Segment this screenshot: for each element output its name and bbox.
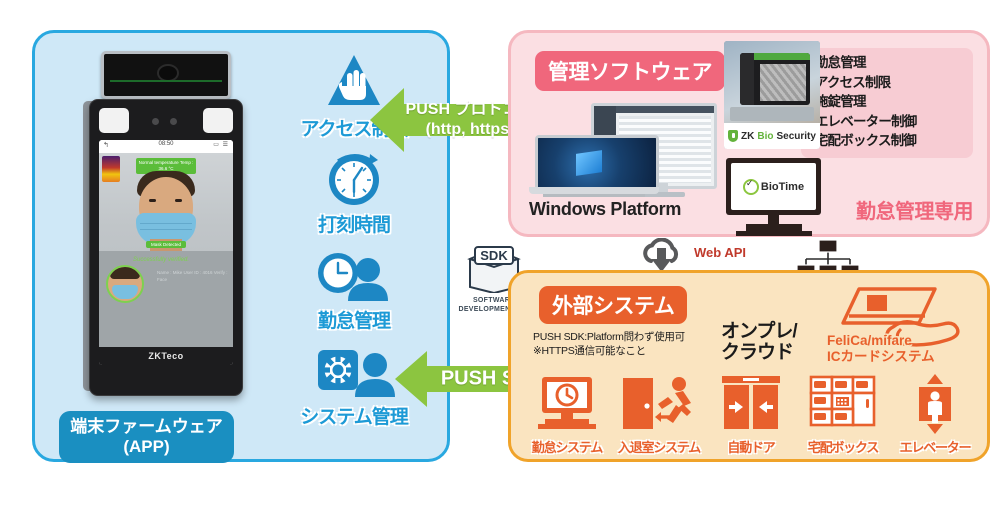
list-item: ●勤怠管理 bbox=[809, 54, 965, 74]
system-automatic-door: 自動ドア bbox=[705, 373, 797, 456]
zkbiosecurity-caption: ZKBioSecurity bbox=[724, 123, 820, 149]
camera-lens-icon bbox=[157, 64, 179, 82]
device-screen[interactable]: ↰ 08:50 ▭ ☰ Normal temperature Temp : 36… bbox=[99, 140, 233, 365]
feature-punch-time: 打刻時間 bbox=[270, 147, 438, 237]
biotime-monitor-base-foot bbox=[736, 231, 812, 236]
bullet-text: 勤怠管理 bbox=[815, 55, 866, 70]
zkbio-laptop-content bbox=[760, 64, 806, 101]
web-api-label: Web API bbox=[694, 245, 746, 260]
biotime-screen-inner: BioTime bbox=[731, 163, 816, 210]
system-label: エレベーター bbox=[889, 437, 981, 456]
windows-platform-group: Windows Platform bbox=[529, 103, 719, 218]
clock-person-icon bbox=[270, 243, 438, 305]
automatic-door-icon bbox=[705, 373, 797, 435]
feature-label: 勤怠管理 bbox=[270, 306, 438, 333]
zkbio-photo-scene bbox=[724, 41, 820, 123]
felica-mifare-label: FeliCa/mifare ICカードシステム bbox=[827, 333, 935, 365]
user-info-text: Name : Mike User ID : 4016 Verify : Face bbox=[157, 269, 233, 283]
mask-detected-badge: Mask Detected bbox=[146, 241, 186, 248]
zkbio-laptop bbox=[740, 53, 810, 105]
door-exit-icon bbox=[613, 373, 705, 435]
thermal-image-icon bbox=[102, 156, 120, 182]
onpremise-cloud-label: オンプレ/ クラウド bbox=[721, 321, 797, 363]
thumbnail-hair bbox=[110, 265, 140, 279]
biotime-logo: BioTime bbox=[743, 179, 804, 195]
zkbio-laptop-sidebar bbox=[740, 53, 754, 105]
biotime-monitor-neck bbox=[768, 215, 779, 224]
thumbnail-mask bbox=[112, 285, 138, 299]
system-attendance: 勤怠システム bbox=[521, 373, 613, 456]
management-feature-bullets: ●勤怠管理 ●アクセス制限 ●施錠管理 ●エレベーター制御 ●宅配ボックス制御 bbox=[801, 48, 973, 158]
delivery-locker-icon bbox=[797, 373, 889, 435]
list-item: ●アクセス制限 bbox=[809, 74, 965, 94]
zkbio-bio-text: Bio bbox=[757, 131, 773, 142]
external-system-panel: 外部システム PUSH SDK:Platform問わず使用可 ※HTTPS通信可… bbox=[508, 270, 990, 462]
zkbio-zk-text: ZK bbox=[741, 131, 754, 142]
laptop-screen bbox=[535, 135, 659, 193]
system-access-control: 入退室システム bbox=[613, 373, 705, 456]
monitor-app-topbar bbox=[616, 106, 714, 113]
bullet-text: エレベーター制御 bbox=[815, 114, 917, 129]
system-label: 宅配ボックス bbox=[797, 437, 889, 456]
user-thumbnail-avatar bbox=[106, 265, 144, 303]
system-delivery-locker: 宅配ボックス bbox=[797, 373, 889, 456]
attendance-monitor-icon bbox=[521, 373, 613, 435]
windows-logo-icon bbox=[576, 150, 602, 176]
ir-camera-dot-1 bbox=[152, 118, 159, 125]
zkbio-keyboard bbox=[730, 107, 814, 121]
device-status-icons: ▭ ☰ bbox=[213, 141, 229, 148]
windows-laptop bbox=[529, 135, 659, 195]
zkbio-security-text: Security bbox=[776, 131, 815, 142]
face-eye-left bbox=[149, 199, 156, 202]
management-software-panel: 管理ソフトウェア ●勤怠管理 ●アクセス制限 ●施錠管理 ●エレベーター制御 ●… bbox=[508, 30, 990, 237]
biotime-monitor-base bbox=[746, 224, 802, 231]
feature-label: 打刻時間 bbox=[270, 210, 438, 237]
ir-fill-light-left bbox=[99, 108, 129, 133]
feature-attendance-management: 勤怠管理 bbox=[270, 243, 438, 333]
device-body: ↰ 08:50 ▭ ☰ Normal temperature Temp : 36… bbox=[89, 99, 243, 396]
laptop-foot bbox=[543, 194, 645, 197]
management-software-badge: 管理ソフトウェア bbox=[535, 51, 725, 91]
zkbiosecurity-product-image: ZKBioSecurity bbox=[724, 41, 820, 149]
face-recognition-preview: Normal temperature Temp : 36.6 °C Mask D… bbox=[99, 153, 233, 347]
check-circle-icon bbox=[743, 179, 759, 195]
external-system-badge: 外部システム bbox=[539, 286, 687, 324]
windows-platform-caption: Windows Platform bbox=[529, 199, 725, 220]
cloud-download-icon bbox=[638, 238, 686, 274]
attendance-only-label: 勤怠管理専用 bbox=[856, 195, 973, 224]
device-clock: 08:50 bbox=[158, 141, 173, 147]
svg-text:SDK: SDK bbox=[480, 248, 508, 263]
bullet-text: アクセス制限 bbox=[815, 75, 891, 90]
device-status-bar: ↰ 08:50 ▭ ☰ bbox=[99, 140, 233, 154]
system-elevator: エレベーター bbox=[889, 373, 981, 456]
laptop-keyboard-base bbox=[529, 187, 659, 194]
bullet-text: 施錠管理 bbox=[815, 94, 866, 109]
zkteco-terminal-device: ↰ 08:50 ▭ ☰ Normal temperature Temp : 36… bbox=[73, 51, 253, 401]
biotime-monitor-screen: BioTime bbox=[726, 158, 821, 215]
system-label: 自動ドア bbox=[705, 437, 797, 456]
list-item: ●施錠管理 bbox=[809, 93, 965, 113]
biotime-monitor-group: BioTime bbox=[726, 158, 821, 236]
list-item: ●宅配ボックス制御 bbox=[809, 132, 965, 152]
bullet-list: ●勤怠管理 ●アクセス制限 ●施錠管理 ●エレベーター制御 ●宅配ボックス制御 bbox=[809, 54, 965, 152]
system-label: 入退室システム bbox=[613, 437, 705, 456]
external-system-note: PUSH SDK:Platform問わず使用可 ※HTTPS通信可能なこと bbox=[533, 330, 685, 358]
elevator-icon bbox=[889, 373, 981, 435]
list-item: ●エレベーター制御 bbox=[809, 113, 965, 133]
biotime-logo-text: BioTime bbox=[761, 181, 804, 193]
device-brand-label: ZKTeco bbox=[99, 347, 233, 365]
ir-fill-light-right bbox=[203, 108, 233, 133]
external-system-list: 勤怠システム 入退室システム bbox=[521, 373, 979, 456]
verification-status-text: Successfully verified. bbox=[133, 257, 189, 263]
shield-icon bbox=[728, 130, 738, 142]
device-top-sensor-bar bbox=[101, 51, 231, 99]
system-label: 勤怠システム bbox=[521, 437, 613, 456]
face-eye-right bbox=[175, 199, 182, 202]
bullet-text: 宅配ボックス制御 bbox=[815, 133, 916, 148]
back-arrow-icon[interactable]: ↰ bbox=[103, 141, 109, 149]
ir-camera-dot-2 bbox=[170, 118, 177, 125]
firmware-label: 端末ファームウェア (APP) bbox=[59, 411, 234, 463]
zkbio-laptop-topbar bbox=[754, 53, 810, 60]
